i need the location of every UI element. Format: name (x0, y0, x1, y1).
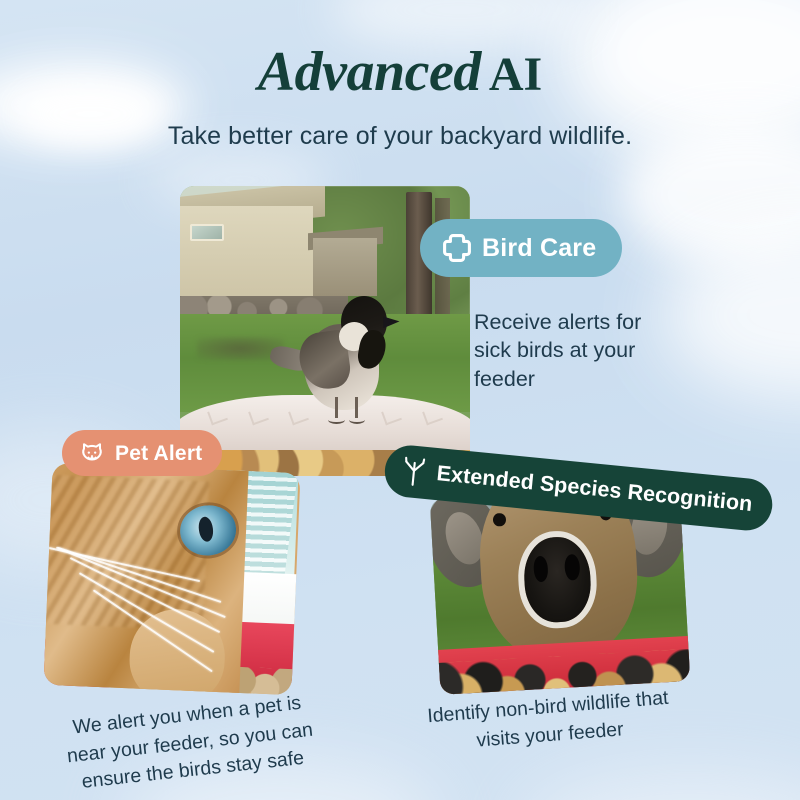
cat-scene (43, 463, 300, 695)
caption-bird-care: Receive alerts for sick birds at your fe… (474, 308, 654, 393)
badge-bird-care-label: Bird Care (482, 236, 596, 261)
deer-nostril (533, 556, 549, 582)
page-title: AdvancedAI (0, 44, 800, 100)
badge-bird-care[interactable]: Bird Care (420, 219, 622, 277)
cloud-shape (520, 770, 800, 800)
bird-beak (383, 316, 399, 328)
deer-nose (523, 535, 593, 624)
title-ai: AI (489, 48, 542, 101)
badge-pet-alert-label: Pet Alert (115, 443, 202, 464)
deer-eye (493, 513, 506, 527)
badge-pet-alert[interactable]: Pet Alert (62, 430, 222, 476)
medical-cross-icon (442, 233, 472, 263)
scene-shed (313, 238, 377, 296)
photo-cat-at-feeder (43, 463, 300, 695)
title-advanced: Advanced (258, 41, 481, 103)
bird-foot (328, 416, 344, 425)
bird-chickadee (296, 290, 398, 421)
scene-window (190, 224, 225, 241)
promo-graphic: AdvancedAI Take better care of your back… (0, 0, 800, 800)
antler-icon (399, 456, 428, 488)
header: AdvancedAI Take better care of your back… (0, 44, 800, 151)
cat-face-icon (79, 440, 105, 466)
scene-house (180, 206, 313, 302)
page-subtitle: Take better care of your backyard wildli… (0, 122, 800, 151)
deer-nostril (564, 554, 580, 580)
